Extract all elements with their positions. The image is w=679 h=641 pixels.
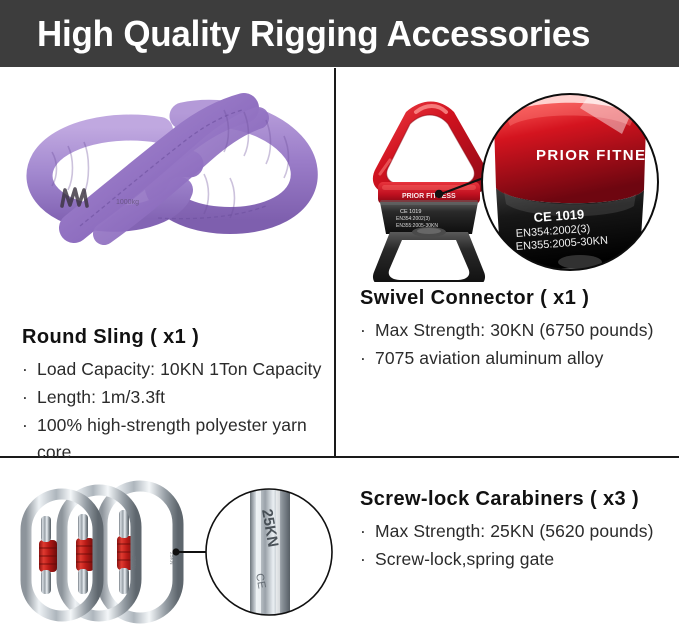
- bullet-icon: ·: [22, 356, 28, 383]
- svg-text:EN354:2002(3): EN354:2002(3): [396, 216, 430, 222]
- round-sling-spec-list: · Load Capacity: 10KN 1Ton Capacity · Le…: [22, 356, 332, 467]
- spec-item: · Length: 1m/3.3ft: [22, 384, 332, 411]
- svg-text:1000kg: 1000kg: [116, 199, 139, 206]
- bullet-icon: ·: [360, 518, 366, 545]
- svg-text:CE 1019: CE 1019: [400, 209, 421, 215]
- spec-item: · Max Strength: 25KN (5620 pounds): [360, 518, 678, 545]
- svg-text:PRIOR FITNESS: PRIOR FITNESS: [536, 147, 669, 164]
- bullet-icon: ·: [360, 345, 366, 372]
- spec-text: 100% high-strength polyester yarn core: [37, 415, 307, 462]
- panel-carabiners-text: Screw-lock Carabiners ( x3 ) · Max Stren…: [336, 458, 679, 641]
- header-banner: High Quality Rigging Accessories: [0, 0, 679, 67]
- spec-text: Max Strength: 25KN (5620 pounds): [375, 521, 654, 541]
- product-infographic: High Quality Rigging Accessories: [0, 0, 679, 641]
- svg-text:PRIOR FITNESS: PRIOR FITNESS: [402, 193, 456, 200]
- panel-carabiners-image: 25KN 25KN 25KN CE: [0, 458, 334, 641]
- panel-swivel-connector: PRIOR FITNESS CE 1019 EN354:2002(3) EN35…: [336, 68, 679, 456]
- bullet-icon: ·: [22, 384, 28, 411]
- spec-item: · 7075 aviation aluminum alloy: [360, 345, 678, 372]
- round-sling-photo: 1000kg: [8, 78, 328, 258]
- carabiners-title: Screw-lock Carabiners ( x3 ): [360, 488, 678, 511]
- spec-text: Load Capacity: 10KN 1Ton Capacity: [37, 359, 321, 379]
- carabiners-text-block: Screw-lock Carabiners ( x3 ) · Max Stren…: [360, 488, 678, 573]
- spec-item: · Load Capacity: 10KN 1Ton Capacity: [22, 356, 332, 383]
- swivel-connector-text-block: Swivel Connector ( x1 ) · Max Strength: …: [360, 287, 678, 372]
- spec-text: Length: 1m/3.3ft: [37, 387, 165, 407]
- carabiners-photo: 25KN 25KN 25KN CE: [4, 470, 334, 635]
- spec-text: Max Strength: 30KN (6750 pounds): [375, 320, 654, 340]
- swivel-connector-photo: PRIOR FITNESS CE 1019 EN354:2002(3) EN35…: [344, 82, 674, 282]
- page-title: High Quality Rigging Accessories: [37, 13, 590, 55]
- round-sling-title: Round Sling ( x1 ): [22, 326, 332, 349]
- bullet-icon: ·: [360, 546, 366, 573]
- bullet-icon: ·: [360, 317, 366, 344]
- carabiners-spec-list: · Max Strength: 25KN (5620 pounds) · Scr…: [360, 518, 678, 573]
- bullet-icon: ·: [22, 412, 28, 439]
- spec-item: · Max Strength: 30KN (6750 pounds): [360, 317, 678, 344]
- spec-item: · Screw-lock,spring gate: [360, 546, 678, 573]
- spec-text: 7075 aviation aluminum alloy: [375, 348, 604, 368]
- spec-text: Screw-lock,spring gate: [375, 549, 554, 569]
- swivel-connector-title: Swivel Connector ( x1 ): [360, 287, 678, 310]
- svg-text:25KN: 25KN: [130, 556, 136, 569]
- swivel-connector-spec-list: · Max Strength: 30KN (6750 pounds) · 707…: [360, 317, 678, 372]
- round-sling-text-block: Round Sling ( x1 ) · Load Capacity: 10KN…: [22, 326, 332, 467]
- panel-round-sling: 1000kg Round Sling ( x1 ) · Load Capacit…: [0, 68, 334, 456]
